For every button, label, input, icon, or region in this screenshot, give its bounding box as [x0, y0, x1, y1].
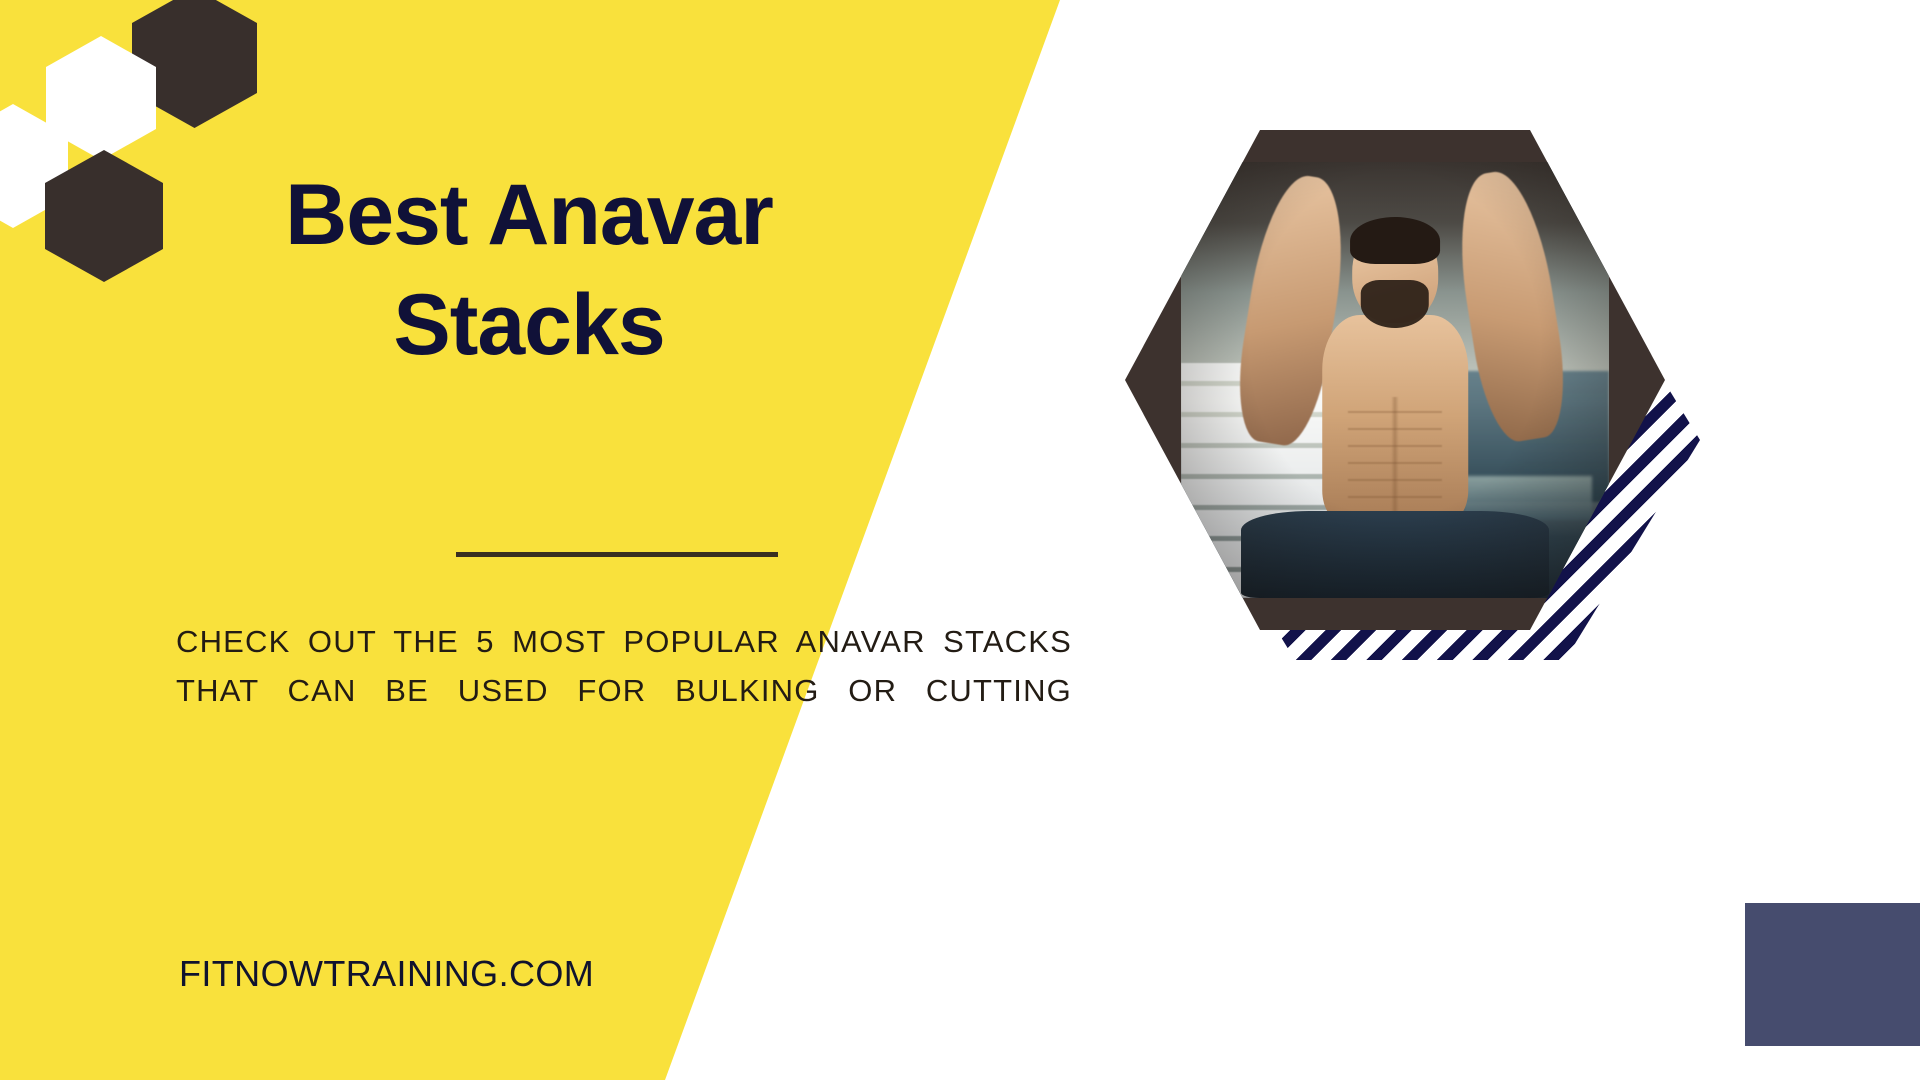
hero-image-group [1130, 90, 1810, 690]
page-title: Best Anavar Stacks [176, 160, 882, 380]
slate-accent-block [1745, 903, 1920, 1046]
photo-vignette [1181, 162, 1609, 598]
subtitle-paragraph: CHECK OUT THE 5 MOST POPULAR ANAVAR STAC… [176, 618, 1072, 765]
hero-photo [1181, 162, 1609, 598]
text-column: Best Anavar Stacks CHECK OUT THE 5 MOST … [176, 0, 876, 1080]
site-url-label: FITNOWTRAINING.COM [179, 953, 594, 995]
poster-canvas: Best Anavar Stacks CHECK OUT THE 5 MOST … [0, 0, 1920, 1080]
title-divider [456, 552, 778, 557]
